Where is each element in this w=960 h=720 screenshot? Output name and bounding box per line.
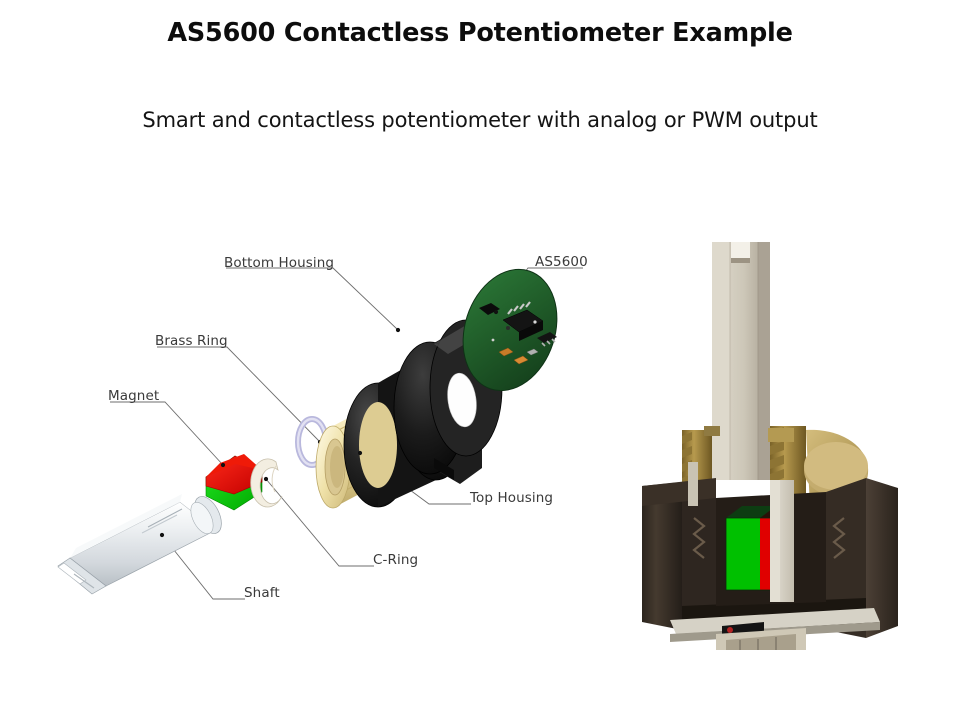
callout-bottom-housing-label: Bottom Housing <box>224 255 334 271</box>
section-shaft-stub <box>770 480 794 602</box>
part-shaft <box>58 492 227 594</box>
page-title: AS5600 Contactless Potentiometer Example <box>0 18 960 48</box>
callout-c-ring: C-Ring <box>373 552 418 568</box>
section-shaft <box>712 242 770 480</box>
exploded-assembly-figure: Bottom Housing AS5600 Brass Ring Magnet … <box>30 230 630 650</box>
section-interior-post <box>688 462 698 506</box>
cross-section-svg <box>630 230 950 650</box>
callout-as5600-label: AS5600 <box>535 254 588 270</box>
page-subtitle: Smart and contactless potentiometer with… <box>0 108 960 132</box>
callout-brass-ring: Brass Ring <box>155 333 228 349</box>
exploded-assembly-svg <box>30 230 630 650</box>
callout-bottom-housing: Bottom Housing <box>224 255 334 271</box>
part-c-ring <box>251 459 282 507</box>
callout-shaft-label: Shaft <box>244 585 280 601</box>
callout-shaft: Shaft <box>244 585 280 601</box>
callout-c-ring-label: C-Ring <box>373 552 418 568</box>
callout-magnet: Magnet <box>108 388 159 404</box>
callout-brass-ring-label: Brass Ring <box>155 333 228 349</box>
callout-as5600: AS5600 <box>535 254 588 270</box>
callout-top-housing: Top Housing <box>470 490 553 506</box>
cross-section-figure <box>630 230 950 650</box>
callout-top-housing-label: Top Housing <box>470 490 553 506</box>
callout-magnet-label: Magnet <box>108 388 159 404</box>
